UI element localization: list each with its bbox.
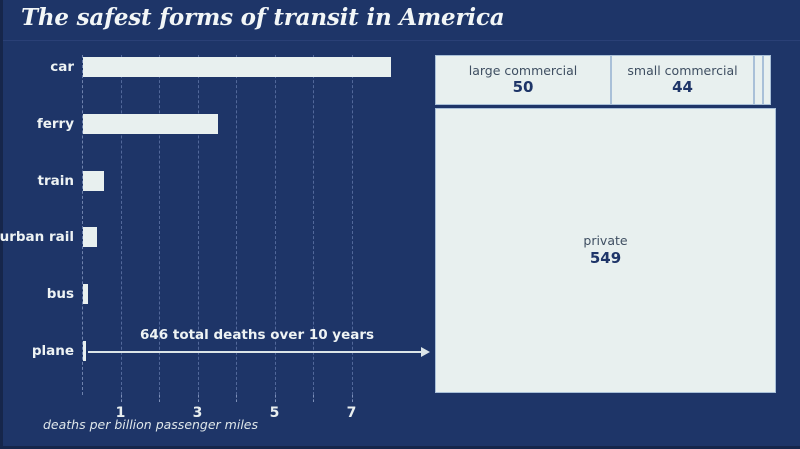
bar-category-label: bus xyxy=(47,286,74,302)
treemap-tile[interactable] xyxy=(763,55,771,105)
treemap-tile[interactable] xyxy=(754,55,763,105)
x-axis-tick xyxy=(121,395,122,402)
gridline xyxy=(198,55,199,395)
bar[interactable] xyxy=(83,171,104,191)
bar-category-label: car xyxy=(50,59,74,75)
annotation-arrow-line xyxy=(88,351,422,353)
aviation-treemap: large commercial50small commercial44priv… xyxy=(435,55,776,393)
bar-category-label: urban rail xyxy=(0,229,74,245)
bar-category-label: train xyxy=(38,173,74,189)
bar-chart-plot-area: 1357carferrytrainurban railbusplane646 t… xyxy=(82,55,422,395)
gridline xyxy=(313,55,314,395)
bar[interactable] xyxy=(83,284,88,304)
annotation-label: 646 total deaths over 10 years xyxy=(140,327,374,343)
bar[interactable] xyxy=(83,114,218,134)
gridline xyxy=(275,55,276,395)
treemap-tile-value: 50 xyxy=(513,78,534,96)
treemap-tile-label: private xyxy=(583,234,627,248)
bar[interactable] xyxy=(83,227,97,247)
infographic-canvas: The safest forms of transit in America 1… xyxy=(0,0,800,449)
gridline xyxy=(352,55,353,395)
x-axis-tick xyxy=(275,395,276,402)
treemap-tile-value: 549 xyxy=(590,249,621,267)
gridline xyxy=(121,55,122,395)
gridline xyxy=(236,55,237,395)
treemap-tile-large-commercial[interactable]: large commercial50 xyxy=(435,55,611,105)
bar-category-label: ferry xyxy=(37,116,74,132)
page-title: The safest forms of transit in America xyxy=(21,4,504,31)
x-axis-tick xyxy=(198,395,199,402)
x-axis-title: deaths per billion passenger miles xyxy=(43,417,258,432)
gridline xyxy=(159,55,160,395)
treemap-tile-small-commercial[interactable]: small commercial44 xyxy=(611,55,754,105)
x-axis-tick-label: 5 xyxy=(270,405,280,421)
bar[interactable] xyxy=(83,57,391,77)
treemap-tile-value: 44 xyxy=(672,78,693,96)
treemap-tile-private[interactable]: private549 xyxy=(435,108,776,393)
x-axis-tick xyxy=(313,395,314,402)
x-axis-tick xyxy=(159,395,160,402)
annotation-arrow-head xyxy=(421,347,430,357)
treemap-tile-label: small commercial xyxy=(627,64,737,78)
bar-chart: 1357carferrytrainurban railbusplane646 t… xyxy=(3,45,433,449)
bar[interactable] xyxy=(83,341,86,361)
x-axis-tick xyxy=(352,395,353,402)
title-divider xyxy=(3,40,800,41)
x-axis-tick-label: 7 xyxy=(347,405,357,421)
bar-category-label: plane xyxy=(32,343,74,359)
treemap-tile-label: large commercial xyxy=(469,64,578,78)
x-axis-tick xyxy=(236,395,237,402)
